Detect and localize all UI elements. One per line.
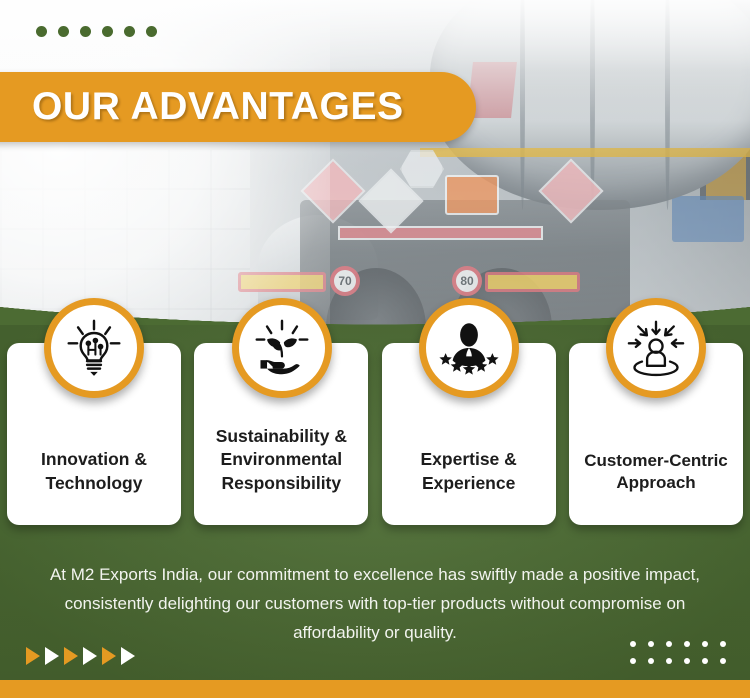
lightbulb-circuit-icon xyxy=(64,318,124,378)
footer-paragraph: At M2 Exports India, our commitment to e… xyxy=(22,560,728,648)
grid-dot xyxy=(702,658,708,664)
top-dot xyxy=(58,26,69,37)
grid-dot xyxy=(684,641,690,647)
top-dot xyxy=(80,26,91,37)
icon-badge-customer-centric xyxy=(606,298,706,398)
arrow-marker xyxy=(121,647,135,665)
arrow-marker xyxy=(64,647,78,665)
grid-dot xyxy=(684,658,690,664)
title-banner: OUR ADVANTAGES xyxy=(0,72,476,142)
grid-dot xyxy=(666,641,672,647)
top-dot-row xyxy=(36,26,157,37)
icon-badge-innovation xyxy=(44,298,144,398)
grid-dot xyxy=(630,658,636,664)
grid-dot xyxy=(648,658,654,664)
page-title: OUR ADVANTAGES xyxy=(32,85,404,129)
arrow-marker xyxy=(83,647,97,665)
icon-badge-sustainability xyxy=(232,298,332,398)
footer-dot-grid xyxy=(630,641,726,664)
top-dot xyxy=(102,26,113,37)
grid-dot xyxy=(648,641,654,647)
grid-dot xyxy=(720,658,726,664)
person-five-stars-icon xyxy=(438,319,500,377)
arrow-marker xyxy=(26,647,40,665)
advantage-card-label: Expertise & Experience xyxy=(416,448,522,495)
person-inward-arrows-icon xyxy=(625,319,687,377)
top-dot xyxy=(124,26,135,37)
grid-dot xyxy=(702,641,708,647)
icon-badge-expertise xyxy=(419,298,519,398)
advantages-infographic: 70 80 OUR ADVANTAGES Innovation & Techno… xyxy=(0,0,750,698)
bottom-accent-strip xyxy=(0,680,750,698)
advantage-card-label: Sustainability & Environmental Responsib… xyxy=(211,425,352,495)
footer-arrow-row xyxy=(26,647,135,665)
arrow-marker xyxy=(102,647,116,665)
hand-holding-plant-icon xyxy=(251,319,313,377)
grid-dot xyxy=(720,641,726,647)
advantage-card-label: Customer-Centric Approach xyxy=(583,450,729,495)
arrow-marker xyxy=(45,647,59,665)
top-dot xyxy=(146,26,157,37)
advantage-card-label: Innovation & Technology xyxy=(36,448,152,495)
grid-dot xyxy=(630,641,636,647)
top-dot xyxy=(36,26,47,37)
grid-dot xyxy=(666,658,672,664)
